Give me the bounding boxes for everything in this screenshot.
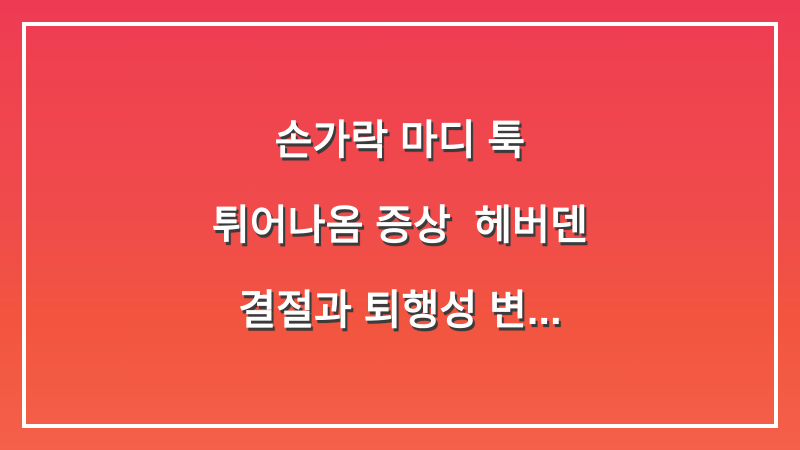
title-line-2: 튀어나옴 증상 헤버덴	[46, 183, 754, 268]
title-line-1: 손가락 마디 툭	[46, 98, 754, 183]
thumbnail-card: 손가락 마디 툭 튀어나옴 증상 헤버덴 결절과 퇴행성 변...	[0, 0, 800, 450]
title-line-3: 결절과 퇴행성 변...	[46, 268, 754, 353]
title-block: 손가락 마디 툭 튀어나옴 증상 헤버덴 결절과 퇴행성 변...	[0, 0, 800, 450]
